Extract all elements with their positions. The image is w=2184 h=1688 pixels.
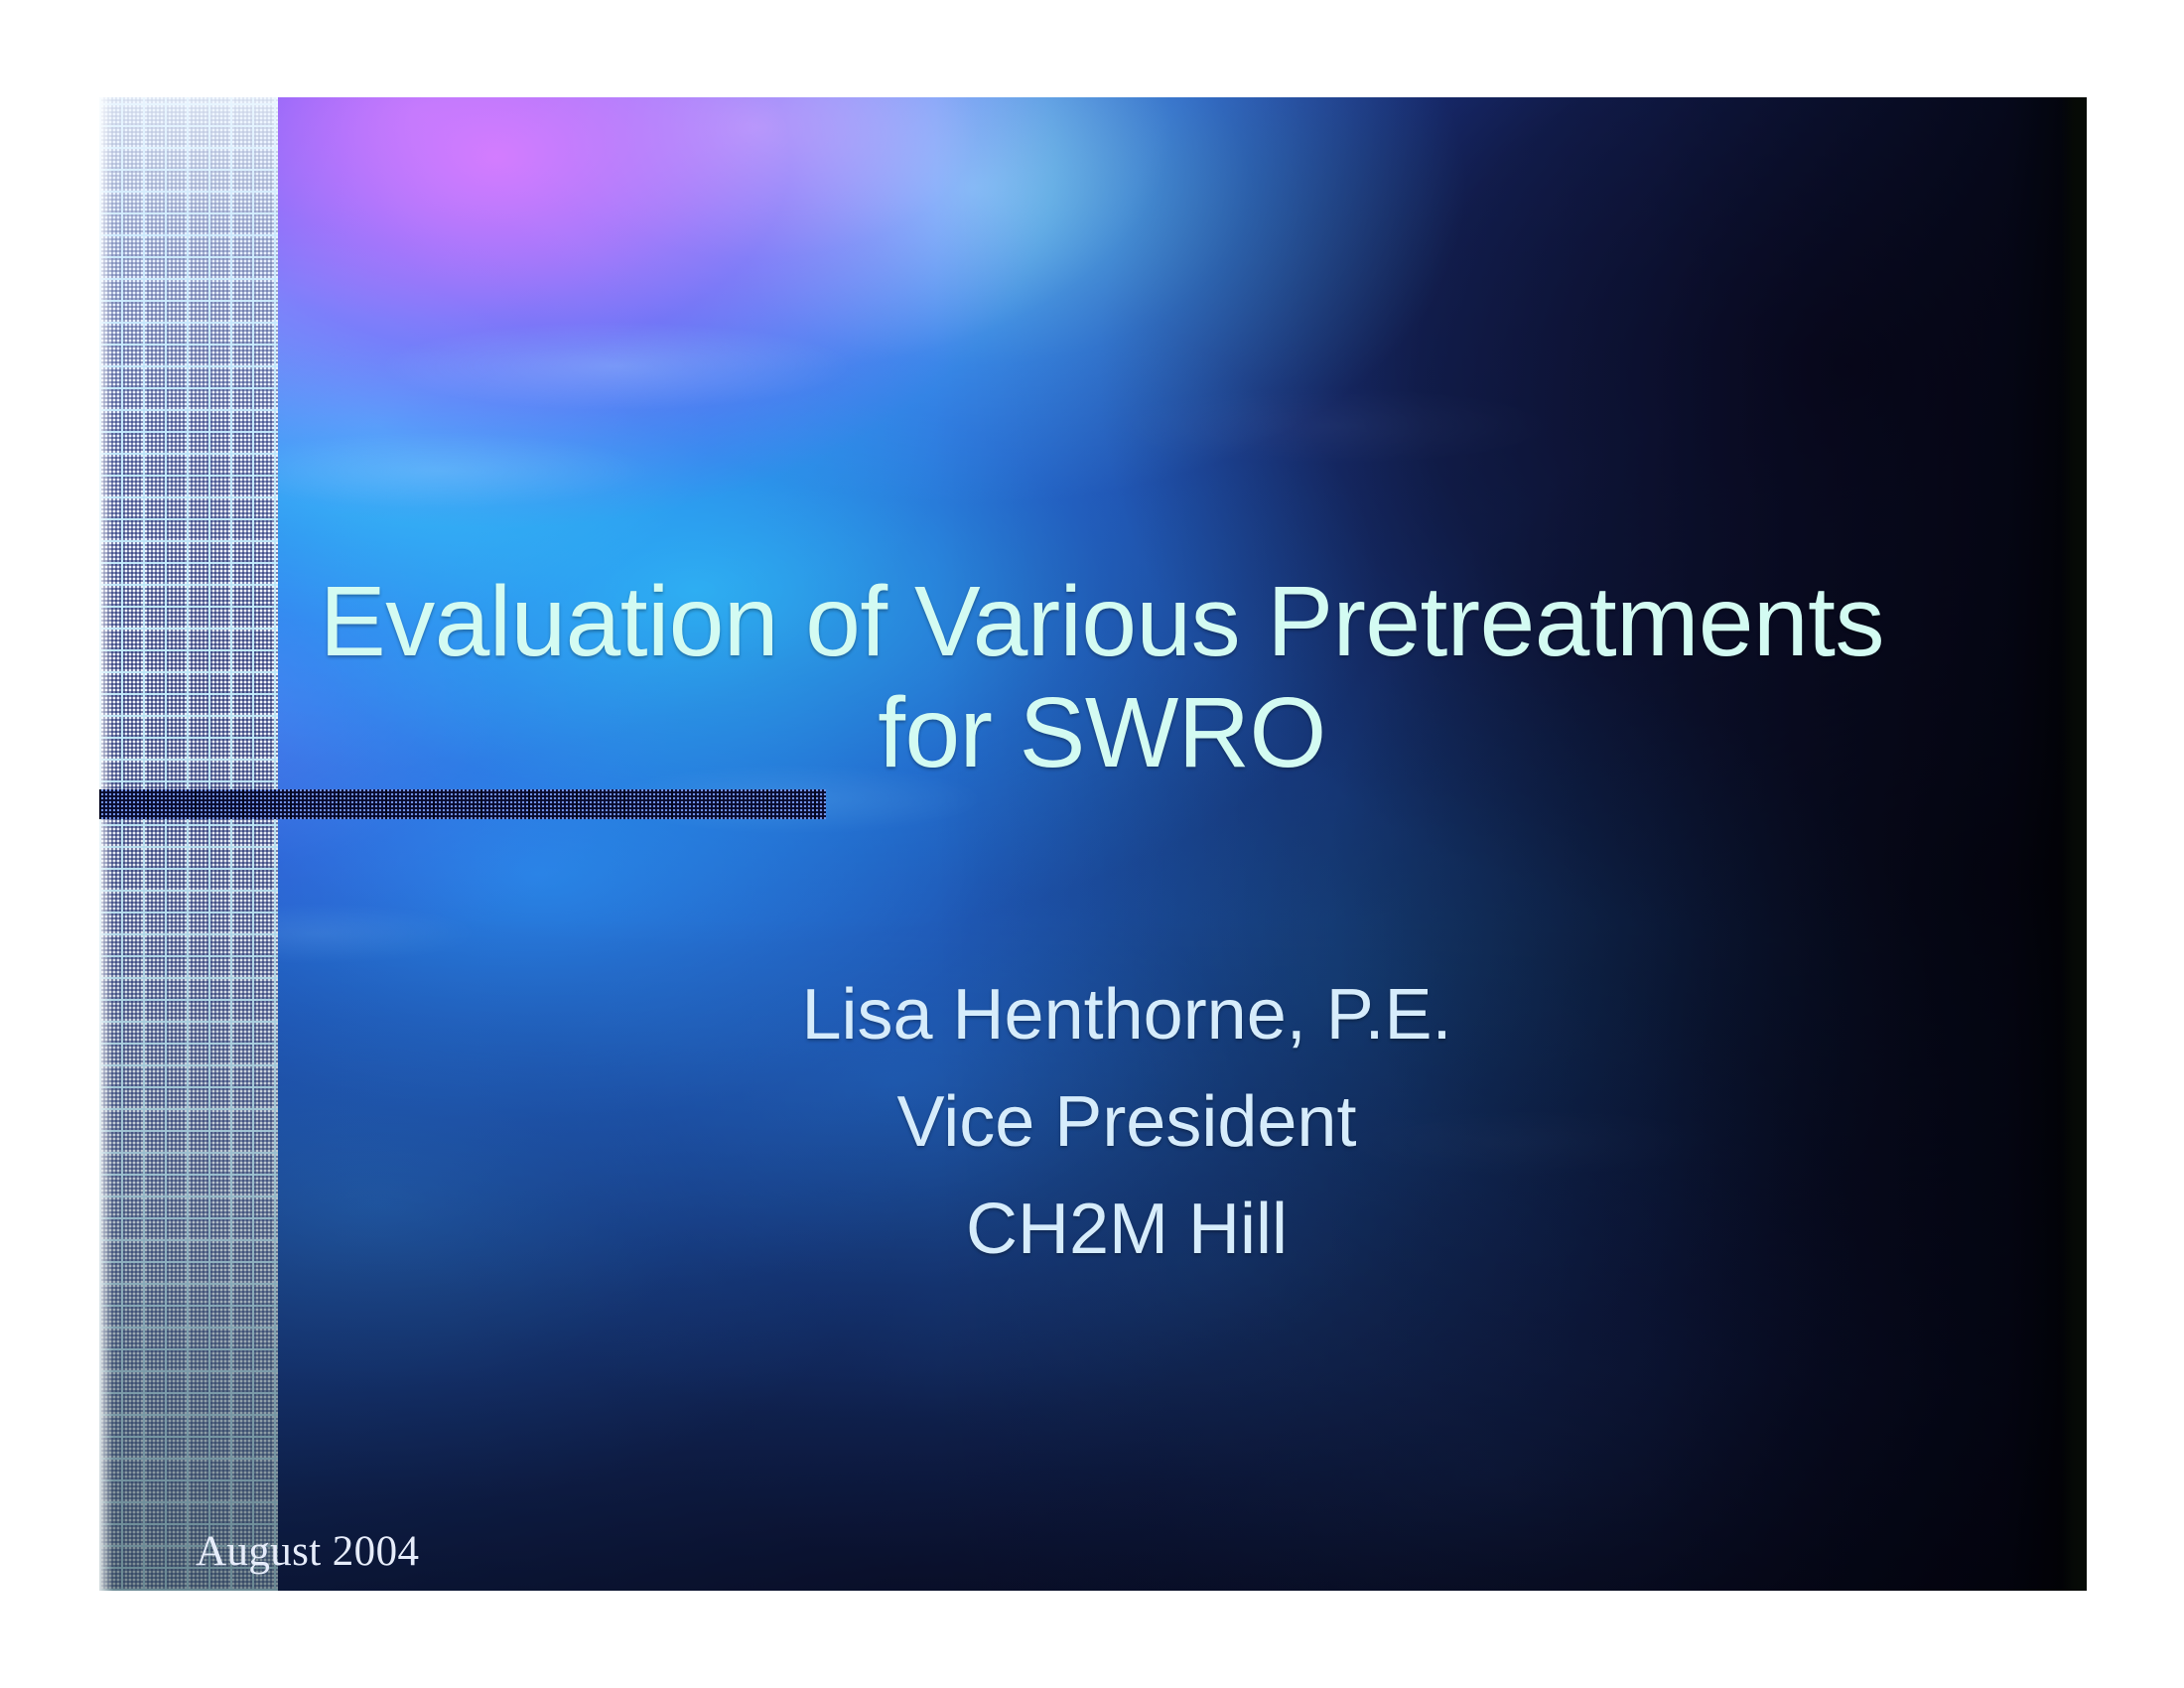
horizontal-accent-bar [99, 789, 826, 819]
presenter-organization: CH2M Hill [427, 1176, 1827, 1283]
sidebar-left-fade [99, 97, 113, 1591]
textured-grid-sidebar [99, 97, 278, 1591]
background-right-edge-shadow [2061, 97, 2087, 1591]
slide-title-line-2: for SWRO [248, 677, 1956, 788]
slide-canvas: Evaluation of Various Pretreatments for … [0, 0, 2184, 1688]
slide-title-line-1: Evaluation of Various Pretreatments [248, 566, 1956, 677]
presentation-slide: Evaluation of Various Pretreatments for … [99, 97, 2087, 1591]
slide-date-footer: August 2004 [196, 1527, 419, 1576]
slide-title: Evaluation of Various Pretreatments for … [248, 566, 1956, 788]
slide-subtitle: Lisa Henthorne, P.E. Vice President CH2M… [427, 961, 1827, 1283]
presenter-name: Lisa Henthorne, P.E. [427, 961, 1827, 1068]
presenter-title: Vice President [427, 1068, 1827, 1176]
sidebar-gradient-wash [99, 97, 278, 1591]
divider-column-lines [99, 789, 826, 819]
background-vignette-overlay [99, 97, 2087, 1591]
